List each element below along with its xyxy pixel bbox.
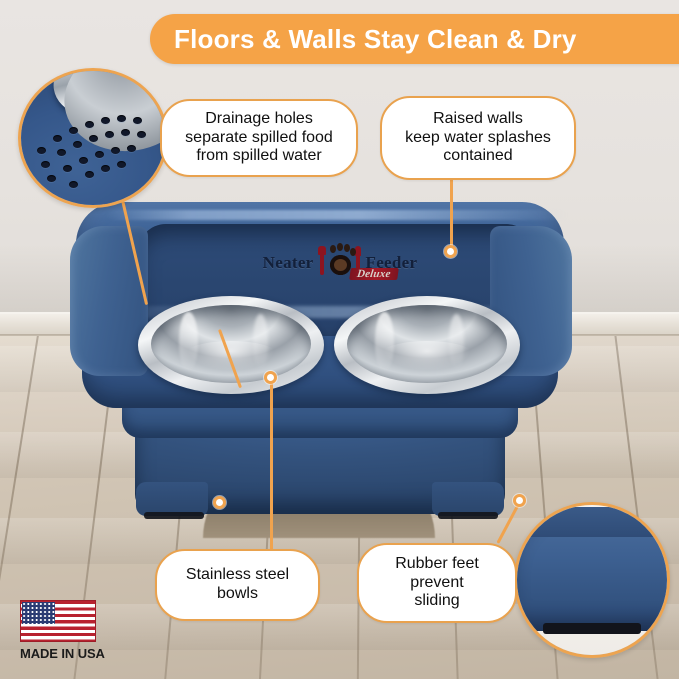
callout-stainless-bowls[interactable]: Stainless steel bowls bbox=[155, 549, 320, 621]
drainage-hole bbox=[69, 127, 78, 134]
drainage-hole bbox=[63, 165, 72, 172]
drainage-hole bbox=[79, 157, 88, 164]
brand-logo: Neater Feeder Deluxe bbox=[254, 242, 426, 284]
callout-text: Drainage holes separate spilled food fro… bbox=[185, 110, 333, 166]
drainage-hole bbox=[117, 115, 126, 122]
drainage-hole bbox=[101, 165, 110, 172]
paw-print-icon bbox=[330, 255, 351, 275]
neater-feeder-product: Neater Feeder Deluxe bbox=[60, 196, 580, 526]
brand-name-left: Neater bbox=[263, 253, 314, 273]
drainage-hole bbox=[89, 135, 98, 142]
paw-toe-icon bbox=[330, 245, 336, 253]
drainage-hole bbox=[85, 171, 94, 178]
drainage-holes-closeup bbox=[18, 68, 168, 208]
closeup-foot-top bbox=[521, 507, 670, 537]
drainage-hole bbox=[95, 151, 104, 158]
leader-line-bowls bbox=[270, 378, 273, 552]
shell-rim-highlight bbox=[106, 210, 568, 220]
callout-text: Raised walls keep water splashes contain… bbox=[405, 110, 551, 166]
drainage-hole bbox=[57, 149, 66, 156]
made-in-usa-text: MADE IN USA bbox=[20, 646, 110, 661]
flag-canton bbox=[22, 602, 55, 624]
bowl-highlight bbox=[375, 312, 394, 373]
fork-icon bbox=[320, 251, 324, 275]
drainage-hole bbox=[53, 135, 62, 142]
product-infographic: Neater Feeder Deluxe bbox=[0, 0, 679, 679]
us-flag-icon bbox=[20, 600, 96, 642]
drainage-hole bbox=[47, 175, 56, 182]
bowl-interior bbox=[151, 305, 311, 383]
leader-line-walls bbox=[450, 176, 453, 252]
drainage-hole bbox=[111, 147, 120, 154]
callout-dot-walls[interactable] bbox=[444, 245, 457, 258]
paw-toe-icon bbox=[337, 243, 343, 251]
closeup-rubber-pad bbox=[543, 623, 641, 634]
rubber-foot-pad-right bbox=[438, 512, 498, 519]
rubber-foot-closeup bbox=[514, 502, 670, 658]
drainage-hole bbox=[73, 141, 82, 148]
drainage-hole bbox=[105, 131, 114, 138]
raised-wall-left bbox=[70, 226, 148, 376]
callout-dot-bowls-lower[interactable] bbox=[213, 496, 226, 509]
drainage-hole bbox=[101, 117, 110, 124]
stainless-bowl-right bbox=[334, 296, 520, 394]
paw-toe-icon bbox=[344, 244, 350, 252]
drainage-hole bbox=[69, 181, 78, 188]
drainage-hole bbox=[85, 121, 94, 128]
bowl-highlight bbox=[179, 312, 198, 373]
callout-rubber-feet[interactable]: Rubber feet prevent sliding bbox=[357, 543, 517, 623]
stainless-bowl-left bbox=[138, 296, 324, 394]
pedestal-foot-left bbox=[136, 482, 208, 516]
pedestal-foot-right bbox=[432, 482, 504, 516]
callout-raised-walls[interactable]: Raised walls keep water splashes contain… bbox=[380, 96, 576, 180]
callout-text: Stainless steel bowls bbox=[186, 566, 289, 603]
callout-dot-bowls[interactable] bbox=[264, 371, 277, 384]
bowl-interior bbox=[347, 305, 507, 383]
drainage-hole bbox=[127, 145, 136, 152]
drainage-hole bbox=[37, 147, 46, 154]
header-banner: Floors & Walls Stay Clean & Dry bbox=[150, 14, 679, 64]
drainage-hole bbox=[133, 117, 142, 124]
paw-toe-icon bbox=[350, 248, 356, 256]
rubber-foot-pad-left bbox=[144, 512, 204, 519]
banner-title: Floors & Walls Stay Clean & Dry bbox=[174, 24, 577, 55]
brand-subtitle: Deluxe bbox=[349, 268, 398, 280]
drainage-hole bbox=[121, 129, 130, 136]
drainage-hole bbox=[137, 131, 146, 138]
callout-drainage-holes[interactable]: Drainage holes separate spilled food fro… bbox=[160, 99, 358, 177]
drainage-hole bbox=[117, 161, 126, 168]
drainage-hole bbox=[41, 161, 50, 168]
callout-text: Rubber feet prevent sliding bbox=[395, 555, 479, 611]
